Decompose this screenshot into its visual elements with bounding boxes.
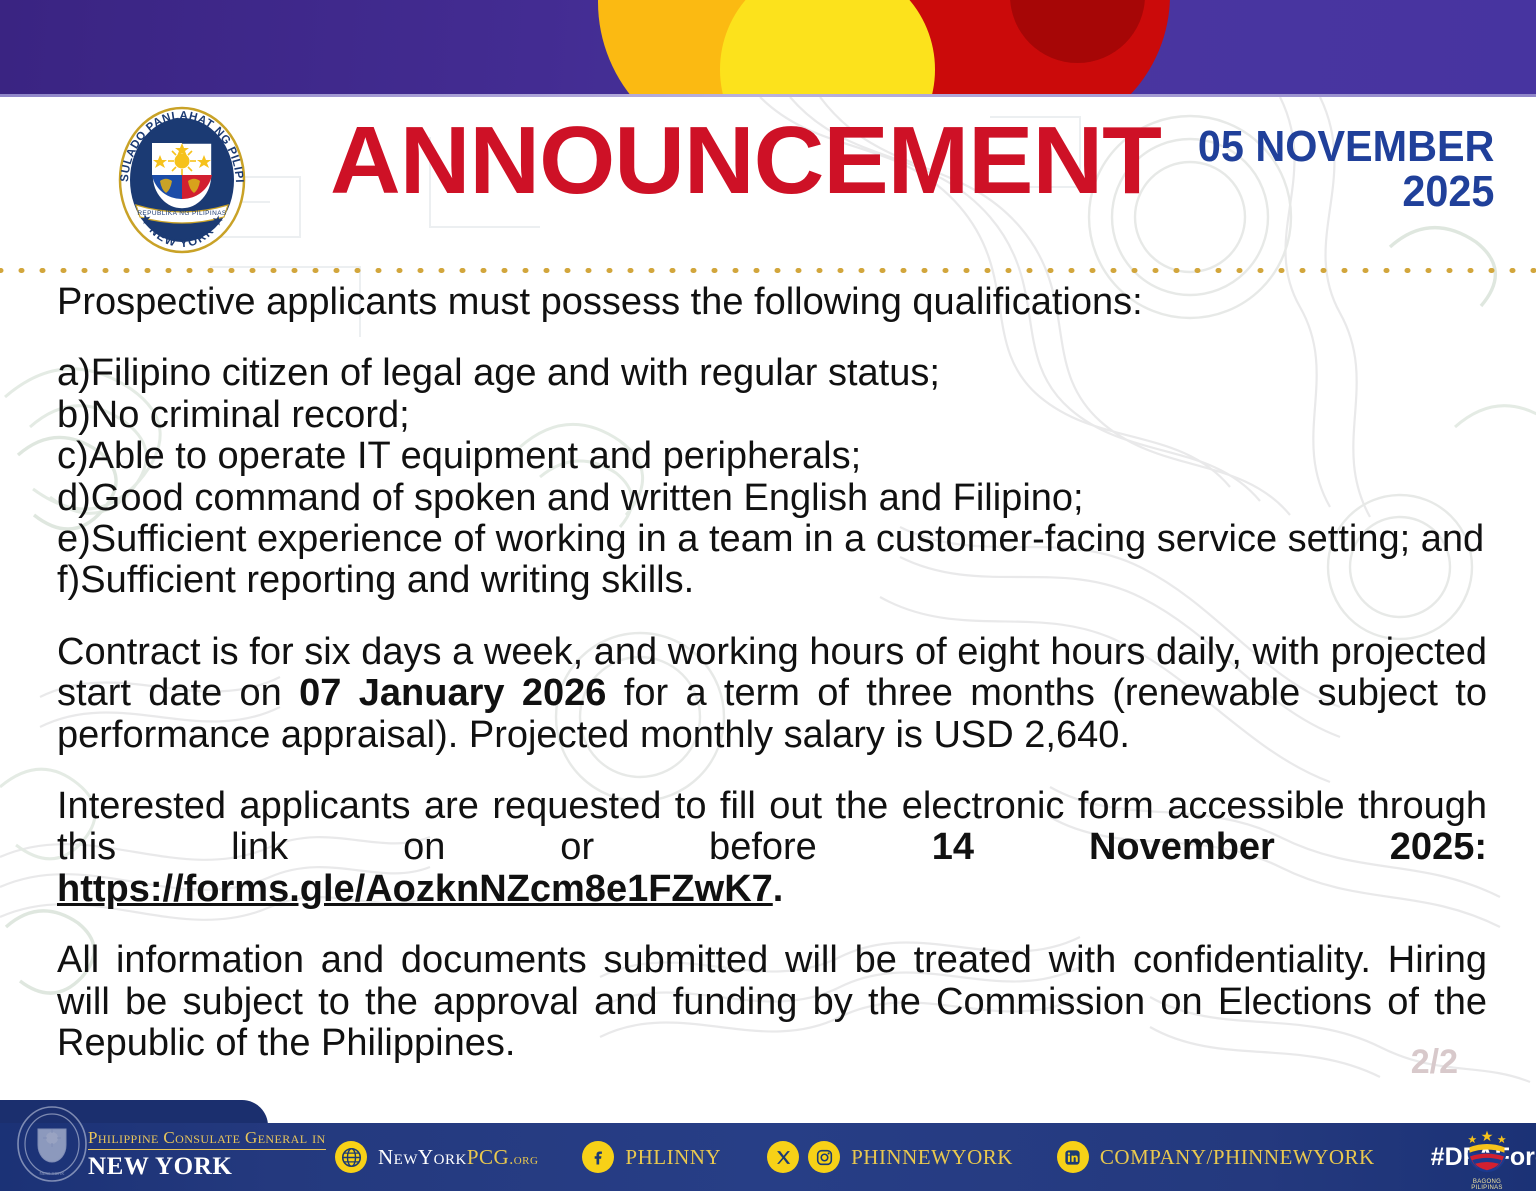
announcement-body: Prospective applicants must possess the …	[0, 282, 1536, 1102]
globe-icon	[335, 1141, 367, 1173]
website-label: NewYorkPCG.org	[378, 1145, 538, 1170]
qualification-marker: f)	[57, 559, 80, 601]
svg-text:REPUBLIKA NG PILIPINAS: REPUBLIKA NG PILIPINAS	[137, 210, 227, 217]
qualification-marker: d)	[57, 477, 91, 519]
qualification-marker: c)	[57, 435, 89, 477]
application-text-after: .	[773, 868, 784, 910]
x-instagram-label: PHINNEWYORK	[851, 1145, 1013, 1170]
website-tld: .org	[509, 1151, 538, 1168]
website-name-white: NewYork	[378, 1145, 467, 1169]
qualification-item: b)No criminal record;	[57, 395, 1487, 436]
facebook-icon	[582, 1141, 614, 1173]
bagong-pilipinas-caption: BAGONG PILIPINAS	[1458, 1179, 1516, 1191]
page-title: ANNOUNCEMENT	[330, 113, 1161, 209]
qualification-item: d)Good command of spoken and written Eng…	[57, 478, 1487, 519]
title-row: REPUBLIKA NG PILIPINAS KONSULADO PANLAHA…	[0, 97, 1536, 268]
qualification-text: Good command of spoken and written Engli…	[91, 477, 1084, 519]
intro-paragraph: Prospective applicants must possess the …	[57, 282, 1487, 323]
instagram-icon[interactable]	[808, 1141, 840, 1173]
facebook-link[interactable]: PHLINNY	[582, 1141, 721, 1173]
qualification-item: f)Sufficient reporting and writing skill…	[57, 560, 1487, 601]
dotted-divider	[0, 262, 1536, 271]
application-form-link[interactable]: https://forms.gle/AozknNZcm8e1FZwK7	[57, 868, 773, 910]
qualification-marker: a)	[57, 352, 91, 394]
linkedin-icon	[1057, 1141, 1089, 1173]
linkedin-label: COMPANY/PHINNEWYORK	[1100, 1145, 1375, 1170]
qualification-marker: e)	[57, 518, 91, 560]
contract-start-date: 07 January 2026	[299, 672, 606, 714]
qualification-item: e)Sufficient experience of working in a …	[57, 519, 1487, 560]
consulate-seal-icon: REPUBLIKA NG PILIPINAS KONSULADO PANLAHA…	[112, 105, 252, 255]
qualification-marker: b)	[57, 394, 91, 436]
footer-seal-icon: NEW YORK	[14, 1105, 90, 1183]
qualification-item: c)Able to operate IT equipment and perip…	[57, 436, 1487, 477]
qualification-text: Able to operate IT equipment and periphe…	[89, 435, 861, 477]
qualification-text: Sufficient reporting and writing skills.	[80, 559, 694, 601]
qualification-item: a)Filipino citizen of legal age and with…	[57, 353, 1487, 394]
facebook-label: PHLINNY	[625, 1145, 721, 1170]
x-instagram-links[interactable]: PHINNEWYORK	[767, 1141, 1013, 1173]
page-number: 2/2	[1411, 1043, 1458, 1082]
qualification-text: Filipino citizen of legal age and with r…	[91, 352, 940, 394]
svg-text:NEW YORK: NEW YORK	[40, 1171, 66, 1176]
qualification-text: No criminal record;	[91, 394, 410, 436]
qualification-text: Sufficient experience of working in a te…	[91, 518, 1484, 560]
date-line-1: 05 NOVEMBER	[1198, 125, 1494, 170]
footer-org-line-2: NEW YORK	[88, 1153, 326, 1181]
header-decorative-band	[0, 0, 1536, 97]
announcement-page: REPUBLIKA NG PILIPINAS KONSULADO PANLAHA…	[0, 0, 1536, 1191]
announcement-date: 05 NOVEMBER 2025	[1179, 125, 1494, 215]
confidentiality-paragraph: All information and documents submitted …	[57, 940, 1487, 1064]
footer-org-line-1: Philippine Consulate General in	[88, 1128, 326, 1150]
qualifications-list: a)Filipino citizen of legal age and with…	[57, 353, 1487, 601]
footer-social-links: NewYorkPCG.org PHLINNY	[335, 1123, 1425, 1191]
x-twitter-icon[interactable]	[767, 1141, 799, 1173]
date-line-2: 2025	[1198, 170, 1494, 215]
decorative-circle-yellow	[720, 0, 935, 97]
linkedin-link[interactable]: COMPANY/PHINNEWYORK	[1057, 1141, 1375, 1173]
contract-paragraph: Contract is for six days a week, and wor…	[57, 632, 1487, 756]
application-paragraph: Interested applicants are requested to f…	[57, 786, 1487, 910]
footer-org-name: Philippine Consulate General in NEW YORK	[88, 1128, 326, 1181]
application-deadline: 14 November 2025:	[932, 826, 1487, 868]
website-link[interactable]: NewYorkPCG.org	[335, 1141, 538, 1173]
website-name-gold: PCG	[467, 1145, 509, 1169]
bagong-pilipinas-logo: BAGONG PILIPINAS	[1458, 1127, 1516, 1185]
